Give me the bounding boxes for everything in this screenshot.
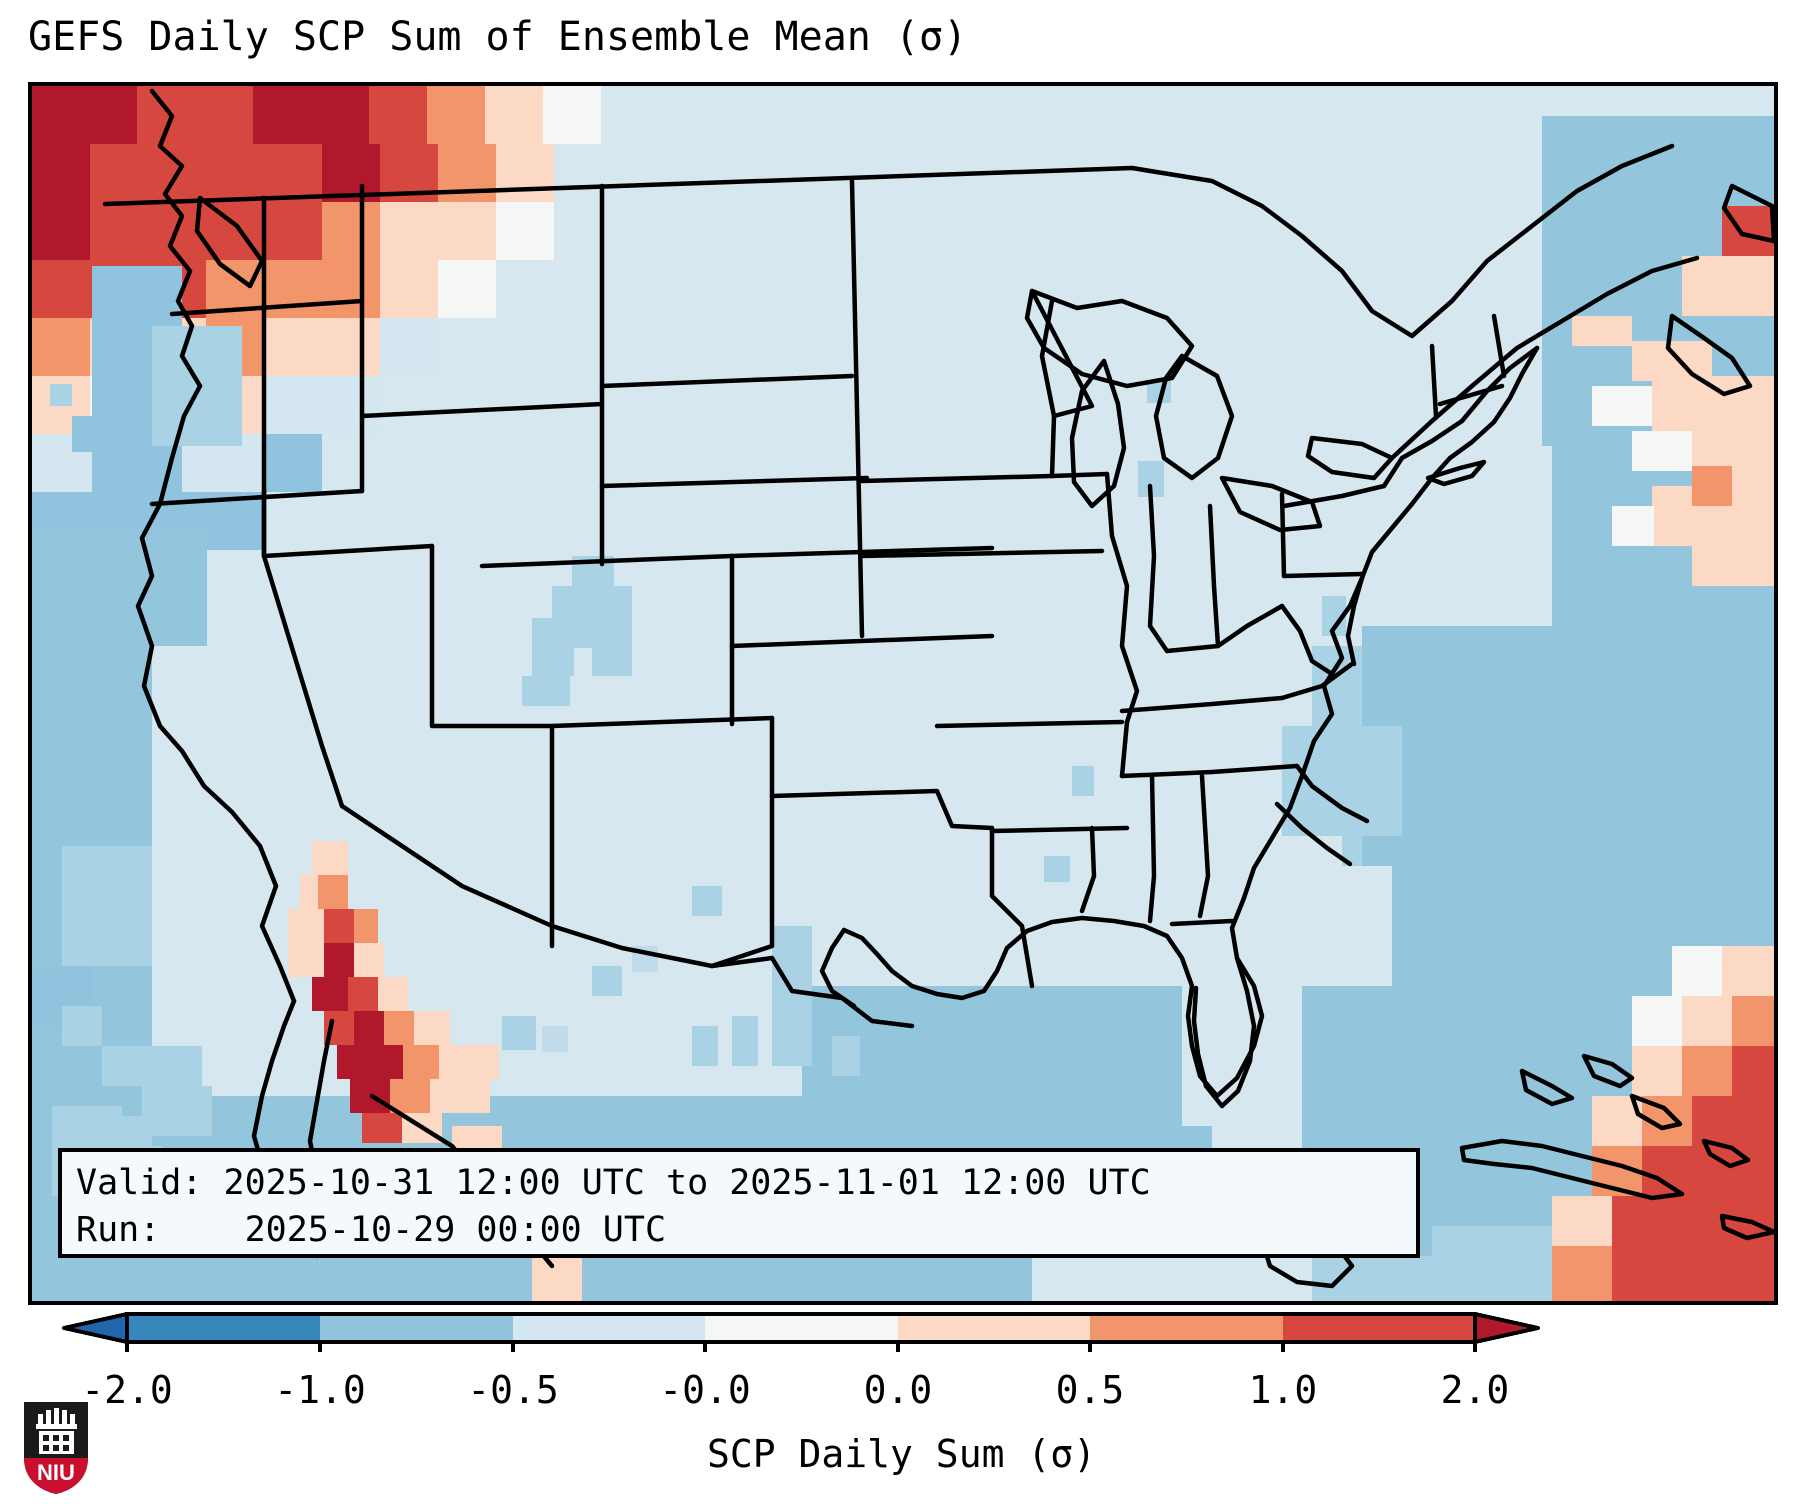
colorbar-tick-label: 1.0 <box>1249 1368 1318 1412</box>
map-panel[interactable] <box>28 82 1778 1305</box>
colorbar-seg-7 <box>1283 1314 1475 1342</box>
forecast-info-box: Valid: 2025-10-31 12:00 UTC to 2025-11-0… <box>58 1148 1420 1258</box>
map-figure <box>32 86 1774 1301</box>
colorbar-tick-label: -2.0 <box>81 1368 173 1412</box>
run-time-text: Run: 2025-10-29 00:00 UTC <box>76 1207 1402 1254</box>
niu-logo: NIU <box>20 1400 92 1496</box>
colorbar-over-arrow <box>1475 1314 1538 1342</box>
colorbar-tick-label: 2.0 <box>1441 1368 1510 1412</box>
colorbar-segments <box>64 1314 1538 1342</box>
colorbar-tick-label: -0.0 <box>659 1368 751 1412</box>
colorbar[interactable] <box>0 1312 1803 1352</box>
valid-time-text: Valid: 2025-10-31 12:00 UTC to 2025-11-0… <box>76 1160 1402 1207</box>
colorbar-tick-label: -0.5 <box>467 1368 559 1412</box>
colorbar-tick-label: 0.5 <box>1056 1368 1125 1412</box>
colorbar-seg-4 <box>705 1314 898 1342</box>
colorbar-seg-5 <box>898 1314 1090 1342</box>
state-border-ga-fl <box>1172 921 1232 924</box>
colorbar-seg-1 <box>127 1314 320 1342</box>
colorbar-tick-labels: -2.0-1.0-0.5-0.00.00.51.02.0 <box>0 1368 1803 1416</box>
colorbar-tick-label: 0.0 <box>864 1368 933 1412</box>
page-title: GEFS Daily SCP Sum of Ensemble Mean (σ) <box>28 14 967 60</box>
colorbar-seg-3 <box>513 1314 705 1342</box>
colorbar-tick-label: -1.0 <box>274 1368 366 1412</box>
state-border-pa-md <box>1284 574 1362 576</box>
niu-logo-text: NIU <box>37 1460 75 1485</box>
state-border-wi-il <box>1052 474 1107 476</box>
colorbar-under-arrow <box>64 1314 127 1342</box>
state-border-ar-la <box>992 828 1127 831</box>
colorbar-seg-2 <box>320 1314 513 1342</box>
colorbar-seg-6 <box>1090 1314 1283 1342</box>
colorbar-axis-label: SCP Daily Sum (σ) <box>0 1432 1803 1476</box>
